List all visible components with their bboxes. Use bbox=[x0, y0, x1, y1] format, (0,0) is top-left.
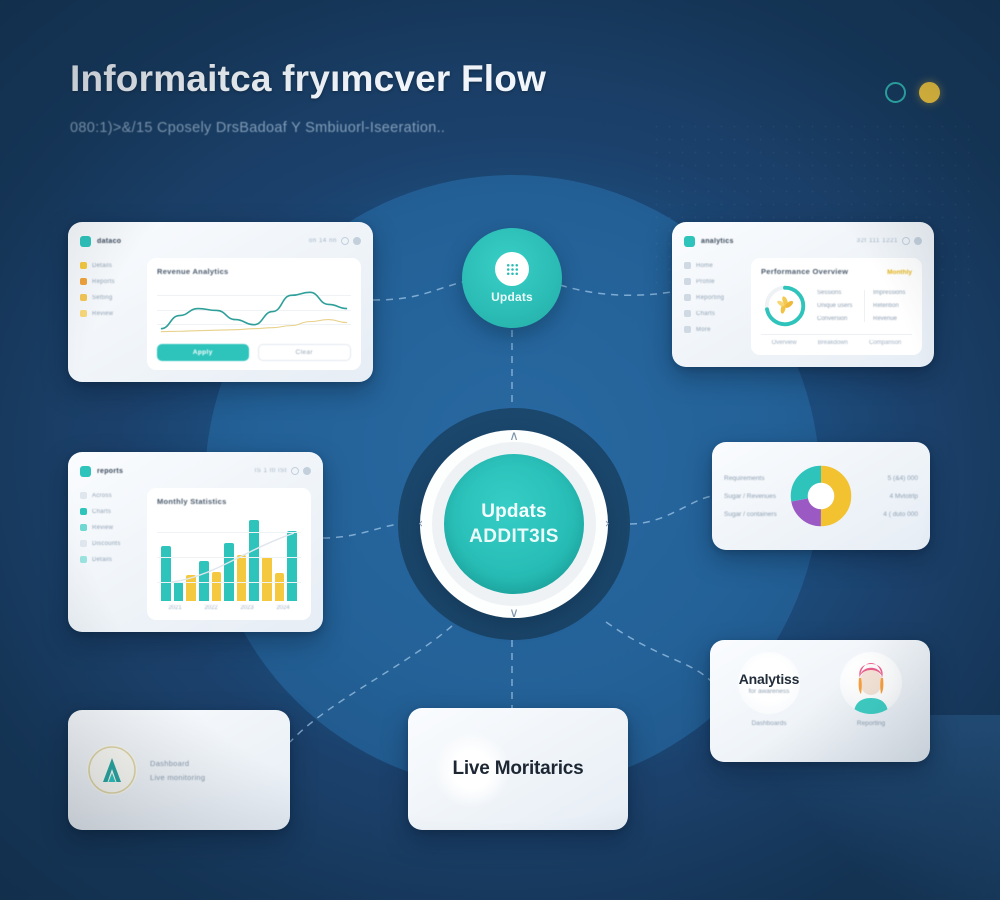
completion-donut-svg bbox=[761, 282, 809, 330]
sidebar-item-review[interactable]: Review bbox=[80, 310, 138, 317]
topbar-meta-text: on 14 nn bbox=[309, 238, 337, 244]
hub-label-primary: Updats bbox=[481, 501, 547, 523]
status-dot-amber-icon[interactable] bbox=[919, 82, 940, 103]
stat-line: Impressions bbox=[873, 290, 912, 296]
card-brandmark: reports bbox=[80, 466, 123, 477]
stats-badge: Monthly bbox=[887, 269, 912, 276]
central-hub[interactable]: Updats ADDIT3IS ∧ ∨ ‹ › bbox=[398, 408, 630, 640]
topbar-circle-icon[interactable] bbox=[291, 467, 299, 475]
sidebar-item-charts[interactable]: Charts bbox=[80, 508, 138, 515]
sidebar-item-label: More bbox=[696, 327, 711, 333]
analytics-subtitle: for awareness bbox=[739, 688, 799, 695]
logo-card[interactable]: Dashboard Live monitoring bbox=[68, 710, 290, 830]
brand-label: dataco bbox=[97, 238, 121, 245]
sidebar-item-details[interactable]: Details bbox=[80, 556, 138, 563]
line-chart-card[interactable]: dataco on 14 nn Details Reports Setting bbox=[68, 222, 373, 382]
donut-value-label: 4 Mvtotrlp bbox=[889, 493, 918, 500]
bar-6 bbox=[237, 555, 247, 601]
line-chart-plot bbox=[157, 281, 351, 338]
bar-chart-card[interactable]: reports lS 1 ltl lSt AcrossChartsReviewD… bbox=[68, 452, 323, 632]
chevron-up-icon[interactable]: ∧ bbox=[509, 430, 519, 443]
topbar-contrast-icon[interactable] bbox=[303, 467, 311, 475]
node-updates-label: Updats bbox=[491, 290, 533, 304]
bullet-icon bbox=[80, 278, 87, 285]
sidebar-item-profile[interactable]: Profile bbox=[684, 278, 742, 285]
donut-legend-right: 5 (&4) 0004 Mvtotrlp4 ( duto 000 bbox=[858, 475, 918, 518]
sidebar-item-label: Charts bbox=[92, 509, 111, 515]
bar-xaxis-label: 2023 bbox=[240, 605, 253, 611]
sidebar-item-charts[interactable]: Charts bbox=[684, 310, 742, 317]
sidebar-item-more[interactable]: More bbox=[684, 326, 742, 333]
sidebar-item-label: Discounts bbox=[92, 541, 121, 547]
sidebar-item-label: Review bbox=[92, 525, 113, 531]
live-metrics-card[interactable]: Live Moritarics bbox=[408, 708, 628, 830]
topbar-contrast-icon[interactable] bbox=[353, 237, 361, 245]
stats-footer-item[interactable]: Breakdown bbox=[818, 340, 848, 346]
clear-button[interactable]: Clear bbox=[258, 344, 352, 361]
chevron-right-icon[interactable]: › bbox=[605, 518, 610, 531]
bullet-icon bbox=[80, 508, 87, 515]
bar-9 bbox=[275, 573, 285, 601]
card-brandmark: analytics bbox=[684, 236, 734, 247]
sidebar-item-review[interactable]: Review bbox=[80, 524, 138, 531]
card-body: Details Reports Setting Review Revenue A… bbox=[80, 258, 361, 370]
card-brandmark: dataco bbox=[80, 236, 121, 247]
stats-footer-item[interactable]: Overview bbox=[772, 340, 797, 346]
sidebar-item-label: Reporting bbox=[696, 295, 724, 301]
panel-title: Performance Overview bbox=[761, 267, 848, 276]
stats-panel-header: Performance Overview Monthly bbox=[761, 267, 912, 276]
stats-footer[interactable]: OverviewBreakdownComparison bbox=[761, 334, 912, 346]
bar-10 bbox=[287, 531, 297, 601]
stat-line: Unique users bbox=[817, 303, 856, 309]
stats-column-one: SessionsUnique usersConversion bbox=[817, 290, 856, 322]
donut-legend-label: Requirements bbox=[724, 475, 784, 482]
panel-title: Monthly Statistics bbox=[157, 497, 301, 506]
bullet-icon bbox=[80, 524, 87, 531]
page-header: Informaitca fryımcver Flow 080:1)>&/15 C… bbox=[70, 58, 930, 136]
topbar-circle-icon[interactable] bbox=[902, 237, 910, 245]
donut-chart bbox=[790, 465, 852, 527]
card-topbar-actions[interactable]: on 14 nn bbox=[309, 237, 361, 245]
sidebar-item-home[interactable]: Home bbox=[684, 262, 742, 269]
card-topbar: reports lS 1 ltl lSt bbox=[80, 463, 311, 479]
line-series-svg bbox=[157, 281, 351, 338]
bullet-icon bbox=[80, 540, 87, 547]
sidebar-item-label: Charts bbox=[696, 311, 715, 317]
chevron-left-icon[interactable]: ‹ bbox=[418, 518, 423, 531]
sidebar-item-across[interactable]: Across bbox=[80, 492, 138, 499]
bar-5 bbox=[224, 543, 234, 601]
card-topbar: dataco on 14 nn bbox=[80, 233, 361, 249]
sidebar-item-label: Setting bbox=[92, 295, 112, 301]
sidebar-item-label: Profile bbox=[696, 279, 715, 285]
stat-line: Conversion bbox=[817, 316, 856, 322]
brand-square-icon bbox=[684, 236, 695, 247]
sidebar-item-label: Details bbox=[92, 557, 112, 563]
sidebar-item-label: Review bbox=[92, 311, 113, 317]
bar-xaxis-label: 2024 bbox=[276, 605, 289, 611]
card-sidebar[interactable]: HomeProfileReportingChartsMore bbox=[684, 258, 742, 355]
triangle-a-logo-icon bbox=[86, 744, 138, 796]
stat-line: Revenue bbox=[873, 316, 912, 322]
topbar-circle-icon[interactable] bbox=[341, 237, 349, 245]
sidebar-item-discounts[interactable]: Discounts bbox=[80, 540, 138, 547]
stats-column-two: ImpressionsRetentionRevenue bbox=[864, 290, 912, 322]
avatar-cell[interactable]: Reporting bbox=[824, 652, 918, 750]
topbar-meta-text: 32t 111 1221 bbox=[857, 238, 898, 244]
bar-xaxis-label: 2022 bbox=[204, 605, 217, 611]
sidebar-item-label: Across bbox=[92, 493, 112, 499]
stats-card[interactable]: analytics 32t 111 1221 HomeProfileReport… bbox=[672, 222, 934, 367]
donut-chart-svg bbox=[790, 465, 852, 527]
bullet-icon bbox=[684, 278, 691, 285]
line-card-buttons[interactable]: Apply Clear bbox=[157, 344, 351, 361]
bar-2 bbox=[186, 575, 196, 601]
donut-legend-label: Sugar / Revenues bbox=[724, 493, 784, 500]
bullet-icon bbox=[80, 556, 87, 563]
sidebar-item-label: Details bbox=[92, 263, 112, 269]
bullet-icon bbox=[684, 262, 691, 269]
bar-chart-panel: Monthly Statistics 2021202220232024 bbox=[147, 488, 311, 620]
avatar bbox=[840, 652, 902, 714]
stat-line: Retention bbox=[873, 303, 912, 309]
analytics-card[interactable]: Analytiss for awareness Dashboards Repor… bbox=[710, 640, 930, 762]
sidebar-item-reporting[interactable]: Reporting bbox=[684, 294, 742, 301]
card-topbar-actions[interactable]: 32t 111 1221 bbox=[857, 237, 922, 245]
flower-glyph-icon bbox=[776, 295, 794, 314]
donut-value-label: 5 (&4) 000 bbox=[888, 475, 918, 482]
panel-title: Revenue Analytics bbox=[157, 267, 351, 276]
bullet-icon bbox=[684, 326, 691, 333]
card-sidebar[interactable]: AcrossChartsReviewDiscountsDetails bbox=[80, 488, 138, 620]
bullet-icon bbox=[684, 310, 691, 317]
sidebar-item-setting[interactable]: Setting bbox=[80, 294, 138, 301]
logo-card-text: Dashboard Live monitoring bbox=[150, 759, 205, 782]
sidebar-item-details[interactable]: Details bbox=[80, 262, 138, 269]
sidebar-item-reports[interactable]: Reports bbox=[80, 278, 138, 285]
bar-8 bbox=[262, 557, 272, 601]
live-metrics-label: Live Moritarics bbox=[452, 758, 583, 780]
line-series-primary bbox=[161, 292, 347, 328]
donut-legend-label: Sugar / containers bbox=[724, 511, 784, 518]
card-sidebar[interactable]: Details Reports Setting Review bbox=[80, 258, 138, 370]
grid-dots-icon bbox=[495, 252, 529, 286]
node-updates[interactable]: Updats bbox=[462, 228, 562, 328]
bar-4 bbox=[212, 572, 222, 601]
analytics-title: Analytiss bbox=[739, 671, 799, 687]
sidebar-item-label: Home bbox=[696, 263, 713, 269]
header-status-dots bbox=[885, 82, 940, 103]
card-topbar-actions[interactable]: lS 1 ltl lSt bbox=[255, 467, 311, 475]
analytics-word-circle: Analytiss for awareness bbox=[738, 652, 800, 714]
avatar-caption: Reporting bbox=[857, 720, 885, 727]
donut-value-label: 4 ( duto 000 bbox=[883, 511, 918, 518]
logo-badge bbox=[86, 744, 138, 796]
card-body: HomeProfileReportingChartsMore Performan… bbox=[684, 258, 922, 355]
line-chart-panel: Revenue Analytics Apply Clear bbox=[147, 258, 361, 370]
bar-chart-plot bbox=[157, 513, 301, 601]
bar-chart-xaxis: 2021202220232024 bbox=[157, 605, 301, 611]
bar-1 bbox=[174, 582, 184, 601]
chevron-down-icon[interactable]: ∨ bbox=[509, 607, 519, 620]
brand-square-icon bbox=[80, 236, 91, 247]
brand-square-icon bbox=[80, 466, 91, 477]
donut-legend-left: RequirementsSugar / RevenuesSugar / cont… bbox=[724, 475, 784, 518]
logo-line-primary: Dashboard bbox=[150, 759, 205, 768]
bullet-icon bbox=[684, 294, 691, 301]
line-series-secondary bbox=[161, 320, 347, 332]
bar-0 bbox=[161, 546, 171, 601]
bullet-icon bbox=[80, 310, 87, 317]
page-title: Informaitca fryımcver Flow bbox=[70, 58, 930, 100]
topbar-contrast-icon[interactable] bbox=[914, 237, 922, 245]
brand-label: analytics bbox=[701, 238, 734, 245]
bar-xaxis-label: 2021 bbox=[168, 605, 181, 611]
stats-footer-item[interactable]: Comparison bbox=[869, 340, 901, 346]
card-body: AcrossChartsReviewDiscountsDetails Month… bbox=[80, 488, 311, 620]
stats-main-row: SessionsUnique usersConversion Impressio… bbox=[761, 281, 912, 330]
sidebar-item-label: Reports bbox=[92, 279, 115, 285]
status-dot-teal-icon[interactable] bbox=[885, 82, 906, 103]
topbar-meta-text: lS 1 ltl lSt bbox=[255, 468, 287, 474]
user-avatar-icon bbox=[840, 652, 902, 714]
completion-donut-chart bbox=[761, 282, 809, 330]
logo-line-secondary: Live monitoring bbox=[150, 773, 205, 782]
page-subtitle: 080:1)>&/15 Cposely DrsBadoaf Y Smbiuorl… bbox=[70, 120, 930, 136]
bullet-icon bbox=[80, 294, 87, 301]
analytics-caption: Dashboards bbox=[751, 720, 786, 727]
analytics-cell[interactable]: Analytiss for awareness Dashboards bbox=[722, 652, 816, 750]
brand-label: reports bbox=[97, 468, 123, 475]
donut-card[interactable]: RequirementsSugar / RevenuesSugar / cont… bbox=[712, 442, 930, 550]
bullet-icon bbox=[80, 262, 87, 269]
hub-core[interactable]: Updats ADDIT3IS bbox=[444, 454, 584, 594]
apply-button[interactable]: Apply bbox=[157, 344, 249, 361]
hub-label-secondary: ADDIT3IS bbox=[469, 526, 559, 548]
stat-line: Sessions bbox=[817, 290, 856, 296]
bullet-icon bbox=[80, 492, 87, 499]
card-topbar: analytics 32t 111 1221 bbox=[684, 233, 922, 249]
stats-panel: Performance Overview Monthly bbox=[751, 258, 922, 355]
